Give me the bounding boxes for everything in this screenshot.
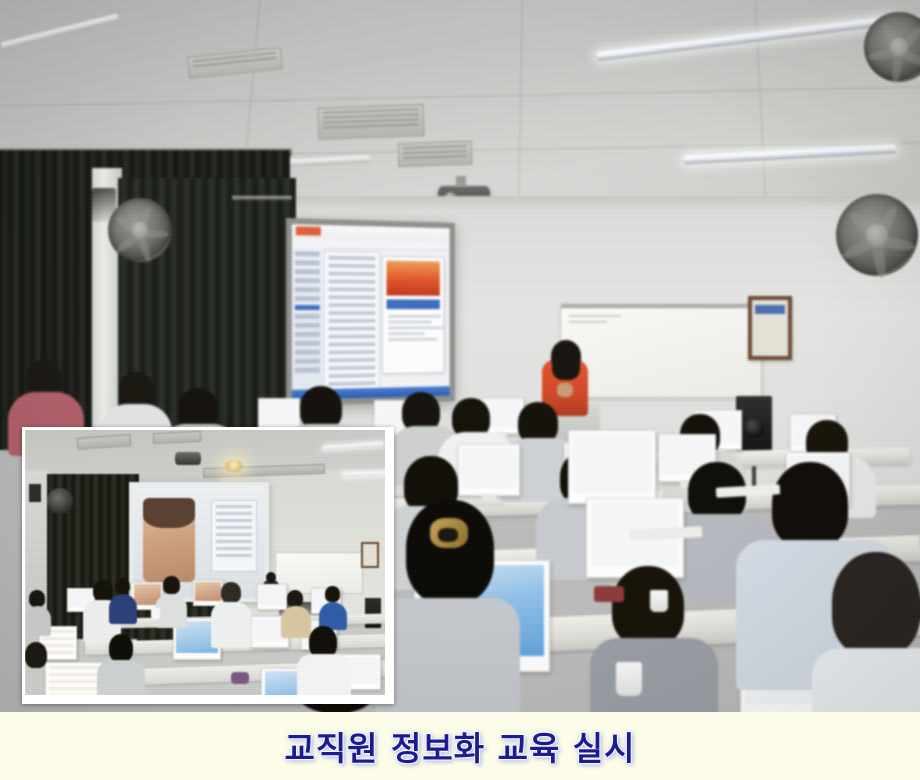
inset-attendee-body [97,660,145,695]
presenter-hair [551,340,581,372]
inset-lcd-monitor [257,584,287,610]
attendee-body [590,638,718,712]
paper-cup [650,590,668,612]
attendee-body [812,648,920,712]
inset-projected-portrait-hair [143,498,195,528]
inset-lcd-monitor [193,580,223,606]
ceiling-air-vent [398,141,473,168]
projected-sidebar [292,247,323,400]
presenter-hands [557,383,573,397]
inset-wall-fan [47,488,73,514]
attendee-body [376,598,520,712]
inset-desk-item [231,672,249,684]
inset-canvas [25,430,385,695]
classroom-wide-angle-inset [22,427,394,704]
wall-ceiling-joint [262,196,920,210]
lcd-monitor [458,444,520,496]
inset-framed-picture [361,542,379,568]
projected-thumbnail [387,261,440,296]
wall-fan [108,198,172,262]
inset-attendee-body [109,594,137,624]
inset-attendee-head [163,576,180,594]
attendee-head [612,566,684,646]
page-root: 교직원 정보화 교육 실시 [0,0,920,780]
caption-title: 교직원 정보화 교육 실시 [284,722,635,770]
inset-attendee-body [25,606,51,636]
inset-ceiling-lamp [225,460,243,472]
paper-cup [616,662,642,696]
hair-pin-detail [438,528,458,542]
inset-attendee-body [297,654,351,695]
inset-lcd-monitor [45,662,105,695]
fan-hub [890,38,908,56]
desk-item [594,586,624,602]
inset-attendee-head [115,578,130,594]
inset-attendee-head [109,634,133,662]
ceiling-air-vent [317,104,424,140]
projection-screen [286,218,455,406]
inset-instructor-head [266,572,276,583]
inset-attendee-head [25,642,47,668]
whiteboard [560,306,762,398]
attendee-head [772,462,848,548]
inset-attendee-head [93,580,113,601]
curtain-rail [232,196,292,201]
inset-attendee-head [221,582,241,603]
projection-screen-image [292,224,450,400]
inset-projector [175,452,201,465]
inset-projected-panel [211,500,257,572]
attendee-head-with-hairpin [406,500,494,604]
inset-attendee-head [287,590,303,607]
lcd-monitor [568,430,656,504]
inset-paper-cup [151,608,160,619]
framed-picture [748,296,792,360]
wall-fan [836,194,918,276]
speaker-cone-icon [744,418,764,438]
fan-hub [866,224,887,245]
attendee-head [832,552,920,656]
caption-bar: 교직원 정보화 교육 실시 [0,712,920,780]
inset-attendee-head [325,586,340,602]
inset-attendee-body [211,602,251,648]
projected-document-window [382,256,444,374]
projected-file-list [324,251,380,393]
inset-attendee-head [29,590,45,607]
inset-attendee-body [281,606,311,638]
inset-wall-speaker [29,484,41,502]
